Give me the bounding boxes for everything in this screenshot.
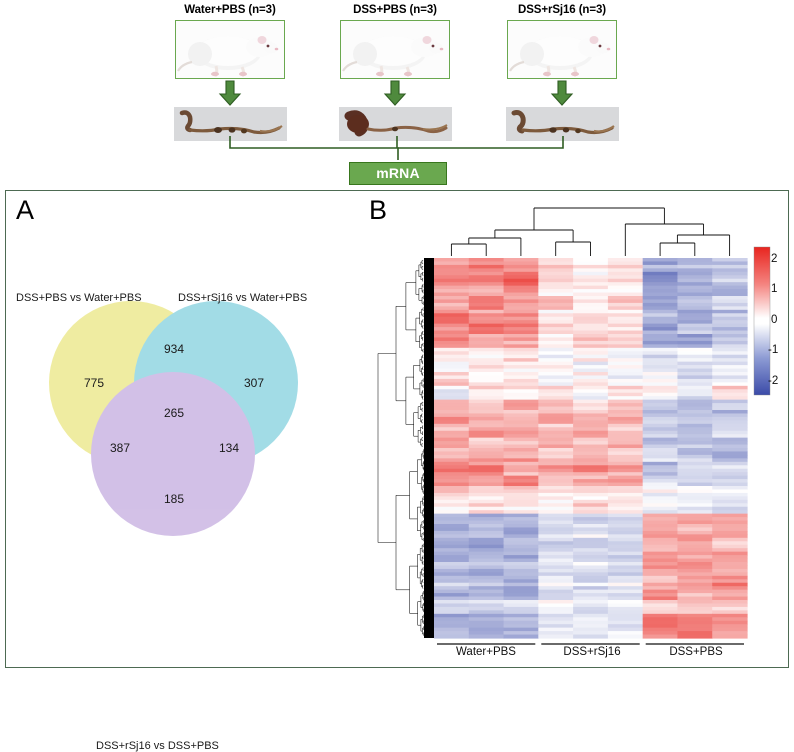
- heatmap-cell: [712, 555, 747, 559]
- heatmap-cell: [573, 362, 608, 366]
- heatmap-cell: [434, 462, 469, 466]
- colorbar-tick-1: 1: [771, 283, 777, 295]
- heatmap-cell: [608, 621, 643, 625]
- heatmap-cell: [677, 590, 712, 594]
- heatmap-cell: [643, 462, 678, 466]
- heatmap-cell: [677, 386, 712, 390]
- heatmap-cell: [712, 334, 747, 338]
- heatmap-cell: [643, 403, 678, 407]
- heatmap-cell: [643, 538, 678, 542]
- heatmap-cell: [573, 327, 608, 331]
- heatmap-cell: [608, 572, 643, 576]
- heatmap-cell: [643, 483, 678, 487]
- heatmap-cell: [469, 382, 504, 386]
- heatmap-cell: [504, 393, 539, 397]
- heatmap-cell: [434, 434, 469, 438]
- heatmap-cell: [712, 624, 747, 628]
- heatmap-cell: [712, 375, 747, 379]
- heatmap-cell: [643, 559, 678, 563]
- heatmap-cell: [573, 324, 608, 328]
- heatmap-cell: [538, 299, 573, 303]
- heatmap-cell: [469, 320, 504, 324]
- heatmap-cell: [573, 413, 608, 417]
- heatmap-cell: [434, 410, 469, 414]
- heatmap-cell: [712, 272, 747, 276]
- heatmap-cell: [538, 413, 573, 417]
- heatmap-cell: [504, 455, 539, 459]
- heatmap-cell: [573, 493, 608, 497]
- heatmap-cell: [712, 434, 747, 438]
- heatmap-cell: [573, 524, 608, 528]
- heatmap-cell: [434, 420, 469, 424]
- heatmap-cell: [504, 403, 539, 407]
- heatmap-cell: [504, 597, 539, 601]
- heatmap-cell: [643, 517, 678, 521]
- heatmap-cell: [469, 341, 504, 345]
- heatmap-cell: [538, 286, 573, 290]
- heatmap-cell: [712, 341, 747, 345]
- heatmap-cell: [469, 327, 504, 331]
- heatmap-cell: [643, 527, 678, 531]
- heatmap-cell: [608, 628, 643, 632]
- heatmap-cell: [677, 583, 712, 587]
- heatmap-cell: [573, 534, 608, 538]
- heatmap-cell: [712, 451, 747, 455]
- heatmap-cell: [469, 531, 504, 535]
- venn-count-a-only: 775: [84, 376, 104, 390]
- heatmap-cell: [573, 279, 608, 283]
- heatmap-cell: [573, 458, 608, 462]
- heatmap-cell: [504, 600, 539, 604]
- heatmap-cell: [538, 597, 573, 601]
- heatmap-cell: [573, 310, 608, 314]
- heatmap-cell: [608, 583, 643, 587]
- heatmap-cell: [504, 507, 539, 511]
- heatmap-cell: [469, 565, 504, 569]
- heatmap-cell: [504, 510, 539, 514]
- heatmap-cell: [712, 348, 747, 352]
- venn-count-c-only: 185: [164, 492, 184, 506]
- heatmap-cell: [712, 393, 747, 397]
- heatmap-cell: [434, 597, 469, 601]
- mrna-node: mRNA: [349, 162, 447, 185]
- heatmap-cell: [573, 341, 608, 345]
- heatmap-cell: [469, 448, 504, 452]
- heatmap-cell: [434, 541, 469, 545]
- heatmap-cell: [608, 472, 643, 476]
- heatmap-cell: [677, 393, 712, 397]
- heatmap-cell: [504, 413, 539, 417]
- heatmap-cell: [573, 348, 608, 352]
- heatmap-cell: [677, 541, 712, 545]
- heatmap-cell: [643, 427, 678, 431]
- heatmap-cell: [608, 438, 643, 442]
- heatmap-cell: [677, 597, 712, 601]
- heatmap-cell: [538, 431, 573, 435]
- heatmap-cell: [712, 320, 747, 324]
- heatmap-cell: [643, 534, 678, 538]
- heatmap-cell: [469, 576, 504, 580]
- heatmap-cell: [573, 265, 608, 269]
- heatmap-cell: [677, 417, 712, 421]
- heatmap-cell: [573, 496, 608, 500]
- heatmap-cell: [643, 438, 678, 442]
- heatmap-cell: [677, 635, 712, 639]
- heatmap-cell: [608, 317, 643, 321]
- heatmap-cell: [538, 545, 573, 549]
- heatmap-cell: [608, 559, 643, 563]
- heatmap-cell: [504, 617, 539, 621]
- heatmap-cell: [677, 355, 712, 359]
- heatmap-cell: [504, 258, 539, 262]
- heatmap-cell: [434, 324, 469, 328]
- heatmap-cell: [504, 268, 539, 272]
- venn-count-ac: 387: [110, 441, 130, 455]
- heatmap-cell: [469, 265, 504, 269]
- heatmap-cell: [573, 628, 608, 632]
- heatmap-cell: [538, 635, 573, 639]
- heatmap-cell: [677, 621, 712, 625]
- heatmap-cell: [504, 420, 539, 424]
- heatmap-cell: [573, 624, 608, 628]
- venn-label-a: DSS+PBS vs Water+PBS: [16, 292, 142, 304]
- heatmap-cell: [434, 469, 469, 473]
- heatmap-cell: [608, 403, 643, 407]
- heatmap-cell: [434, 586, 469, 590]
- heatmap-cell: [504, 576, 539, 580]
- heatmap-cell: [608, 562, 643, 566]
- heatmap-cell: [712, 438, 747, 442]
- heatmap-cell: [573, 472, 608, 476]
- heatmap-cell: [677, 445, 712, 449]
- heatmap-cell: [538, 517, 573, 521]
- heatmap-cell: [538, 448, 573, 452]
- heatmap-cell: [712, 489, 747, 493]
- heatmap-cell: [538, 310, 573, 314]
- heatmap-cell: [643, 496, 678, 500]
- heatmap-cell: [712, 441, 747, 445]
- heatmap-cell: [712, 617, 747, 621]
- heatmap-cell: [469, 272, 504, 276]
- heatmap-cell: [643, 579, 678, 583]
- heatmap-cell: [434, 590, 469, 594]
- venn-count-abc: 265: [164, 406, 184, 420]
- heatmap-cell: [434, 320, 469, 324]
- heatmap-cell: [677, 458, 712, 462]
- heatmap-cell: [434, 483, 469, 487]
- heatmap-cell: [712, 296, 747, 300]
- heatmap-cell: [643, 631, 678, 635]
- heatmap-cell: [538, 531, 573, 535]
- heatmap-cell: [643, 486, 678, 490]
- heatmap-cell: [643, 514, 678, 518]
- heatmap-cell: [538, 386, 573, 390]
- heatmap-cell: [573, 610, 608, 614]
- heatmap-cell: [434, 438, 469, 442]
- heatmap-cell: [504, 334, 539, 338]
- heatmap-cell: [469, 503, 504, 507]
- heatmap-cell: [434, 635, 469, 639]
- heatmap-cell: [643, 386, 678, 390]
- heatmap-cell: [469, 344, 504, 348]
- heatmap-cell: [504, 369, 539, 373]
- heatmap-cell: [504, 572, 539, 576]
- heatmap-cell: [434, 445, 469, 449]
- heatmap-cell: [712, 510, 747, 514]
- heatmap-cell: [573, 586, 608, 590]
- heatmap-cell: [643, 327, 678, 331]
- heatmap-cell: [504, 541, 539, 545]
- heatmap-cell: [504, 517, 539, 521]
- heatmap-cell: [538, 341, 573, 345]
- figure-panel: A B 775 307 185 934 387 134 265 DSS+PBS …: [5, 190, 789, 668]
- heatmap-cell: [573, 355, 608, 359]
- heatmap-cell: [504, 320, 539, 324]
- heatmap-cell: [504, 538, 539, 542]
- heatmap-cell: [608, 541, 643, 545]
- heatmap-cell: [504, 362, 539, 366]
- heatmap-cell: [538, 379, 573, 383]
- heatmap-cell: [677, 603, 712, 607]
- heatmap-cell: [538, 621, 573, 625]
- heatmap-cell: [469, 510, 504, 514]
- heatmap-cell: [469, 552, 504, 556]
- heatmap-cell: [434, 417, 469, 421]
- heatmap-cell: [677, 351, 712, 355]
- heatmap-cell: [434, 610, 469, 614]
- heatmap-cell: [608, 597, 643, 601]
- heatmap-cell: [434, 507, 469, 511]
- heatmap-cell: [469, 355, 504, 359]
- heatmap-cell: [608, 407, 643, 411]
- heatmap-cell: [608, 531, 643, 535]
- heatmap-cell: [434, 486, 469, 490]
- down-arrow-icon: [547, 80, 577, 106]
- heatmap-cell: [469, 628, 504, 632]
- heatmap-cell: [504, 552, 539, 556]
- heatmap-cell: [712, 631, 747, 635]
- heatmap-cell: [712, 389, 747, 393]
- heatmap-cell: [643, 261, 678, 265]
- heatmap-cell: [608, 569, 643, 573]
- heatmap-cell: [434, 538, 469, 542]
- heatmap-cell: [469, 579, 504, 583]
- heatmap-cell: [608, 458, 643, 462]
- heatmap-cell: [538, 393, 573, 397]
- heatmap-cell: [677, 455, 712, 459]
- heatmap-cell: [677, 348, 712, 352]
- heatmap-cell: [573, 559, 608, 563]
- heatmap-cell: [677, 503, 712, 507]
- heatmap-cell: [677, 403, 712, 407]
- heatmap-cell: [434, 306, 469, 310]
- heatmap-cell: [538, 583, 573, 587]
- heatmap-cell: [677, 576, 712, 580]
- heatmap-cell: [608, 635, 643, 639]
- heatmap-cell: [573, 337, 608, 341]
- heatmap-cell: [677, 469, 712, 473]
- heatmap-cell: [677, 614, 712, 618]
- heatmap-cell: [469, 548, 504, 552]
- heatmap-cell: [504, 610, 539, 614]
- heatmap-cell: [504, 496, 539, 500]
- heatmap-cell: [538, 527, 573, 531]
- heatmap-cell: [504, 565, 539, 569]
- heatmap-cell: [469, 289, 504, 293]
- heatmap-cell: [504, 417, 539, 421]
- heatmap-cell: [504, 548, 539, 552]
- heatmap-cell: [434, 579, 469, 583]
- heatmap-cell: [643, 500, 678, 504]
- heatmap-cell: [538, 507, 573, 511]
- heatmap-cell: [677, 527, 712, 531]
- heatmap-cell: [608, 306, 643, 310]
- heatmap-cell: [538, 320, 573, 324]
- heatmap-cell: [469, 275, 504, 279]
- rat-image: [508, 21, 616, 78]
- heatmap-cell: [469, 517, 504, 521]
- heatmap-cell: [608, 631, 643, 635]
- heatmap-cell: [434, 369, 469, 373]
- heatmap-cell: [469, 496, 504, 500]
- heatmap-cell: [538, 441, 573, 445]
- heatmap-cell: [469, 483, 504, 487]
- heatmap-cell: [538, 445, 573, 449]
- heatmap-cell: [712, 337, 747, 341]
- heatmap-cell: [469, 534, 504, 538]
- heatmap-cell: [712, 621, 747, 625]
- heatmap-cell: [504, 448, 539, 452]
- heatmap-cell: [643, 431, 678, 435]
- heatmap-cell: [504, 465, 539, 469]
- heatmap-cell: [608, 334, 643, 338]
- heatmap-cell: [643, 562, 678, 566]
- heatmap-cell: [712, 496, 747, 500]
- heatmap-cell: [608, 603, 643, 607]
- heatmap-cell: [573, 576, 608, 580]
- heatmap-cell: [434, 296, 469, 300]
- heatmap-cell: [677, 420, 712, 424]
- heatmap-cell: [643, 351, 678, 355]
- heatmap-cell: [504, 279, 539, 283]
- heatmap-cell: [538, 503, 573, 507]
- rat-photo: [175, 20, 285, 79]
- heatmap-cell: [434, 365, 469, 369]
- heatmap-cell: [712, 458, 747, 462]
- heatmap-cell: [677, 593, 712, 597]
- rat-image: [341, 21, 449, 78]
- heatmap: [376, 199, 786, 664]
- heatmap-cell: [538, 375, 573, 379]
- heatmap-cell: [677, 296, 712, 300]
- heatmap-cell: [504, 313, 539, 317]
- heatmap-cell: [677, 275, 712, 279]
- heatmap-cell: [643, 469, 678, 473]
- heatmap-cell: [538, 603, 573, 607]
- heatmap-cell: [643, 275, 678, 279]
- heatmap-cell: [538, 559, 573, 563]
- heatmap-cell: [608, 521, 643, 525]
- heatmap-cell: [608, 590, 643, 594]
- heatmap-cell: [434, 514, 469, 518]
- heatmap-cell: [712, 572, 747, 576]
- heatmap-cell: [469, 393, 504, 397]
- heatmap-cell: [608, 344, 643, 348]
- heatmap-cell: [434, 531, 469, 535]
- heatmap-cell: [677, 472, 712, 476]
- heatmap-cell: [643, 372, 678, 376]
- heatmap-cell: [573, 486, 608, 490]
- heatmap-group-label-2: DSS+PBS: [646, 646, 746, 658]
- heatmap-cell: [677, 379, 712, 383]
- heatmap-cell: [573, 382, 608, 386]
- heatmap-cell: [504, 451, 539, 455]
- heatmap-cell: [469, 310, 504, 314]
- heatmap-cell: [608, 524, 643, 528]
- heatmap-cell: [608, 617, 643, 621]
- heatmap-cell: [504, 382, 539, 386]
- heatmap-cell: [434, 607, 469, 611]
- heatmap-cell: [643, 572, 678, 576]
- heatmap-cell: [712, 265, 747, 269]
- heatmap-cell: [712, 635, 747, 639]
- heatmap-cell: [504, 275, 539, 279]
- heatmap-cell: [643, 465, 678, 469]
- heatmap-cell: [677, 375, 712, 379]
- heatmap-cell: [608, 313, 643, 317]
- heatmap-cell: [434, 386, 469, 390]
- heatmap-cell: [434, 455, 469, 459]
- heatmap-cell: [608, 265, 643, 269]
- heatmap-cell: [712, 355, 747, 359]
- heatmap-cell: [573, 282, 608, 286]
- heatmap-cell: [434, 275, 469, 279]
- heatmap-cell: [538, 458, 573, 462]
- heatmap-cell: [504, 299, 539, 303]
- heatmap-cell: [434, 379, 469, 383]
- heatmap-cell: [677, 493, 712, 497]
- heatmap-cell: [573, 514, 608, 518]
- heatmap-cell: [677, 510, 712, 514]
- heatmap-cell: [608, 424, 643, 428]
- colorbar: [754, 247, 770, 395]
- heatmap-cell: [712, 445, 747, 449]
- heatmap-cell: [608, 348, 643, 352]
- heatmap-cell: [573, 417, 608, 421]
- workflow-group-2: DSS+rSj16 (n=3): [462, 0, 662, 141]
- heatmap-cell: [712, 590, 747, 594]
- heatmap-cell: [643, 393, 678, 397]
- heatmap-cell: [469, 545, 504, 549]
- heatmap-cell: [538, 541, 573, 545]
- heatmap-cell: [573, 527, 608, 531]
- heatmap-cell: [677, 320, 712, 324]
- heatmap-cell: [434, 303, 469, 307]
- heatmap-cell: [712, 559, 747, 563]
- heatmap-cell: [608, 296, 643, 300]
- heatmap-cell: [538, 479, 573, 483]
- heatmap-cell: [677, 531, 712, 535]
- heatmap-cell: [608, 514, 643, 518]
- heatmap-cell: [677, 331, 712, 335]
- heatmap-cell: [504, 628, 539, 632]
- heatmap-cell: [538, 538, 573, 542]
- heatmap-cell: [434, 617, 469, 621]
- heatmap-cell: [469, 434, 504, 438]
- heatmap-cell: [434, 503, 469, 507]
- heatmap-cell: [712, 286, 747, 290]
- heatmap-cell: [573, 296, 608, 300]
